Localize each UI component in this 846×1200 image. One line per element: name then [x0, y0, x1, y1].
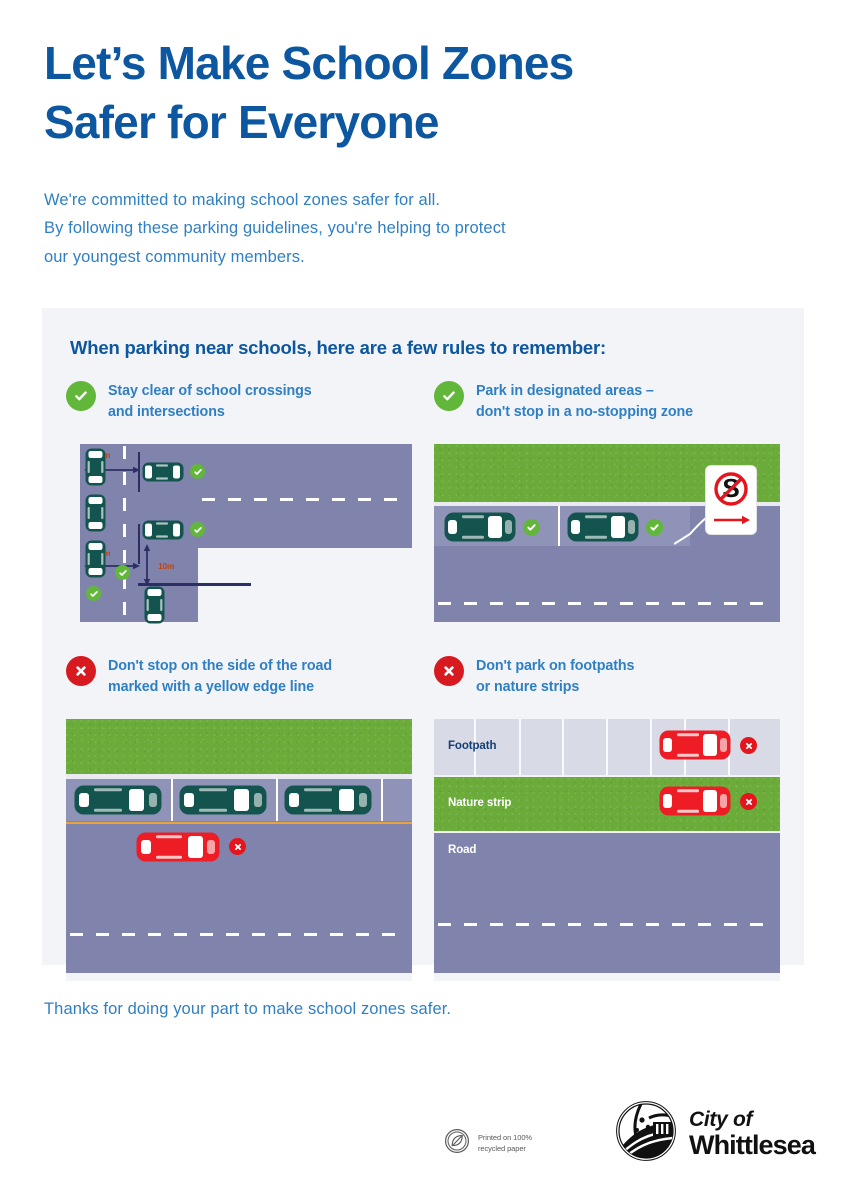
recycled-line2: recycled paper — [478, 1144, 526, 1153]
cross-icon — [66, 656, 96, 686]
cross-icon-footpath — [740, 737, 757, 754]
nature-strip-grass — [66, 719, 412, 774]
rule-card-stay-clear-crossings: Stay clear of school crossings and inter… — [66, 380, 412, 631]
rule-card-park-designated-areas: Park in designated areas – don't stop in… — [434, 380, 780, 631]
recycled-leaf-icon — [444, 1128, 470, 1159]
dimension-arrow-vertical — [143, 544, 151, 586]
rule-label-line2: don't stop in a no-stopping zone — [476, 404, 693, 420]
rule-label-line2: and intersections — [108, 404, 225, 420]
poster-page: Let’s Make School Zones Safer for Everyo… — [0, 0, 846, 1200]
horizontal-road — [198, 444, 412, 548]
parked-car-green — [284, 785, 372, 815]
bay-divider — [558, 506, 560, 546]
thanks-message: Thanks for doing your part to make schoo… — [44, 1000, 451, 1019]
bay-divider — [171, 779, 173, 821]
rule-label-line1: Don't park on footpaths — [476, 658, 634, 674]
page-title-line1: Let’s Make School Zones — [44, 34, 784, 93]
check-icon-side-street — [115, 565, 130, 580]
footpath-joint — [519, 719, 521, 775]
footpath-joint — [650, 719, 652, 775]
footpath-nature-strip-diagram: Footpath — [434, 711, 780, 981]
check-icon-bay-2 — [646, 519, 663, 536]
parked-car-green — [179, 785, 267, 815]
recycled-line1: Printed on 100% — [478, 1133, 532, 1142]
rule-label: Stay clear of school crossings and inter… — [108, 380, 312, 422]
cross-icon-nature-strip — [740, 793, 757, 810]
centre-lane-dashes — [70, 933, 408, 936]
header: Let’s Make School Zones Safer for Everyo… — [44, 34, 784, 271]
bay-divider — [276, 779, 278, 821]
band-label-footpath: Footpath — [448, 740, 496, 752]
brand-logo: City of Whittlesea — [615, 1100, 815, 1167]
rule-card-no-yellow-edge-line: Don't stop on the side of the road marke… — [66, 655, 412, 981]
rules-panel-heading: When parking near schools, here are a fe… — [70, 337, 606, 359]
parked-car-green — [74, 785, 162, 815]
check-icon — [66, 381, 96, 411]
parked-car-green — [142, 520, 184, 540]
check-icon — [434, 381, 464, 411]
designated-parking-bays-diagram: S — [434, 436, 780, 631]
parked-car-green — [144, 586, 165, 624]
yellow-edge-line-diagram — [66, 711, 412, 981]
rule-label-line1: Park in designated areas – — [476, 383, 654, 399]
rule-heading: Don't park on footpaths or nature strips — [434, 655, 780, 711]
parked-car-green — [142, 462, 184, 482]
road-band — [434, 833, 780, 973]
rule-label-line2: marked with a yellow edge line — [108, 679, 314, 695]
dimension-label-vertical: 10m — [158, 561, 174, 571]
parked-car-green — [85, 494, 106, 532]
rule-heading: Stay clear of school crossings and inter… — [66, 380, 412, 436]
recycled-paper-notice: Printed on 100% recycled paper — [444, 1128, 532, 1159]
footpath-joint — [562, 719, 564, 775]
centre-lane-dashes — [438, 602, 776, 605]
parked-car-green — [85, 448, 106, 486]
whittlesea-crest-icon — [615, 1100, 677, 1167]
rule-label: Park in designated areas – don't stop in… — [476, 380, 693, 422]
page-subtitle-line2: By following these parking guidelines, y… — [44, 214, 784, 242]
page-title: Let’s Make School Zones Safer for Everyo… — [44, 34, 784, 152]
parked-car-green — [85, 540, 106, 578]
rule-card-no-footpath-nature-strip: Don't park on footpaths or nature strips… — [434, 655, 780, 981]
rule-label-line1: Don't stop on the side of the road — [108, 658, 332, 674]
page-subtitle: We're committed to making school zones s… — [44, 186, 784, 271]
rules-panel: When parking near schools, here are a fe… — [42, 308, 804, 965]
footpath-joint — [606, 719, 608, 775]
bay-divider — [381, 779, 383, 821]
parked-car-green — [444, 512, 516, 542]
horizontal-lane-dashes — [202, 498, 410, 501]
rule-label-line1: Stay clear of school crossings — [108, 383, 312, 399]
parked-car-green — [567, 512, 639, 542]
rules-grid: Stay clear of school crossings and inter… — [66, 380, 780, 981]
page-subtitle-line3: our youngest community members. — [44, 243, 784, 271]
recycled-paper-text: Printed on 100% recycled paper — [478, 1133, 532, 1153]
page-title-line2: Safer for Everyone — [44, 93, 784, 152]
brand-wordmark: City of Whittlesea — [689, 1109, 815, 1159]
rule-heading: Don't stop on the side of the road marke… — [66, 655, 412, 711]
brand-city-label: City of — [689, 1109, 815, 1130]
brand-name-label: Whittlesea — [689, 1132, 815, 1159]
illegally-parked-car-red — [659, 730, 731, 760]
band-label-nature-strip: Nature strip — [448, 797, 511, 809]
check-icon-vertical-road — [86, 586, 101, 601]
intersection-clearance-diagram: 10m 10m 10m — [66, 436, 412, 631]
clearance-marker-lower — [138, 524, 140, 564]
page-subtitle-line1: We're committed to making school zones s… — [44, 186, 784, 214]
check-icon-upper-lane — [190, 464, 205, 479]
rule-heading: Park in designated areas – don't stop in… — [434, 380, 780, 436]
check-icon-lower-lane — [190, 522, 205, 537]
rule-label-line2: or nature strips — [476, 679, 579, 695]
centre-lane-dashes — [438, 923, 776, 926]
cross-icon-red-car — [229, 838, 246, 855]
cross-icon — [434, 656, 464, 686]
no-stopping-sign: S — [706, 466, 756, 534]
yellow-edge-line — [66, 822, 412, 824]
rule-label: Don't park on footpaths or nature strips — [476, 655, 634, 697]
check-icon-bay-1 — [523, 519, 540, 536]
rule-label: Don't stop on the side of the road marke… — [108, 655, 332, 697]
illegally-parked-car-red — [659, 786, 731, 816]
illegally-parked-car-red — [136, 832, 220, 862]
band-label-road: Road — [448, 844, 476, 856]
